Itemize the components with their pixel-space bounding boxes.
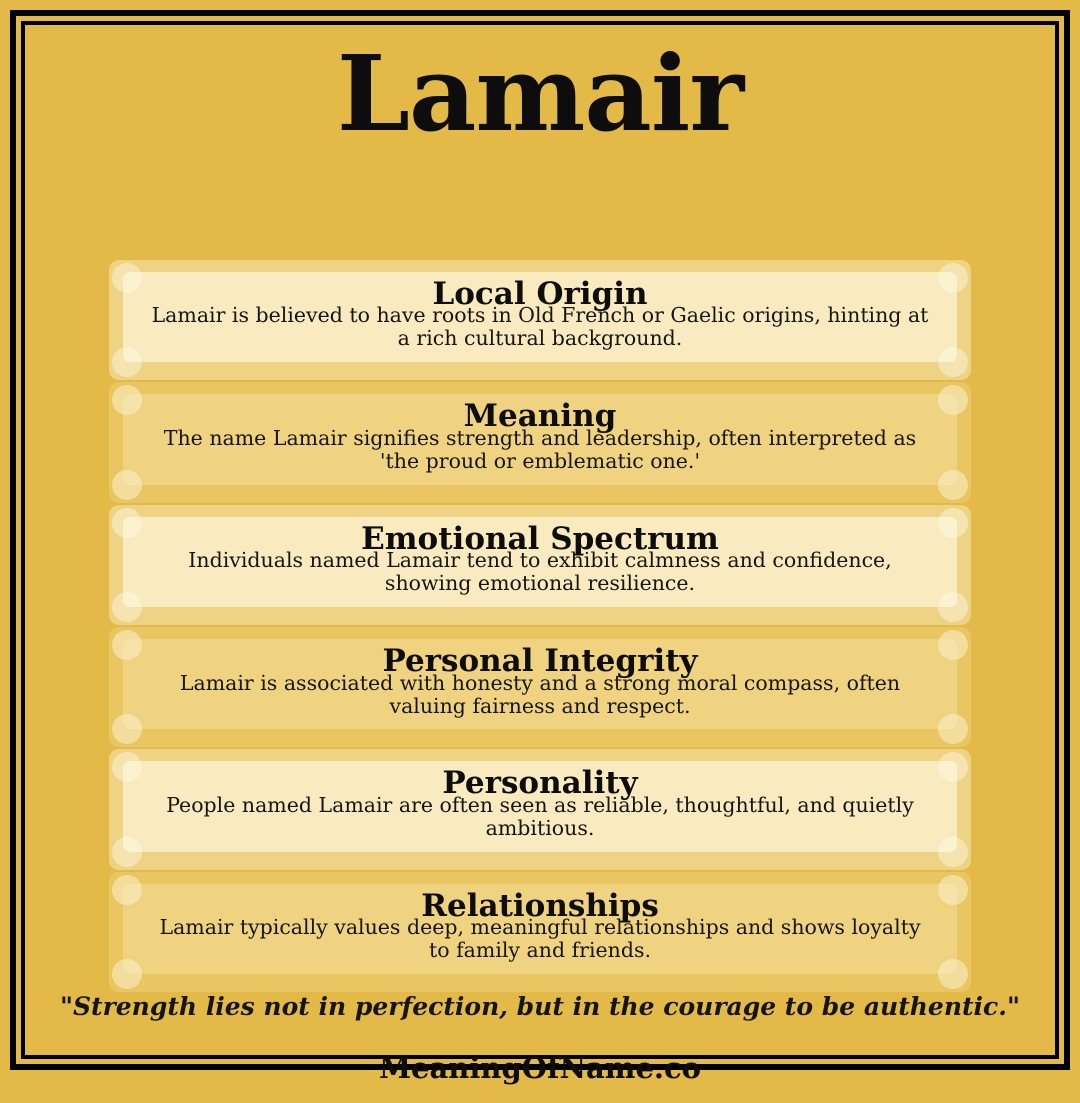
- attribute-card: Relationships Lamair typically values de…: [109, 872, 971, 992]
- attribute-card: Emotional Spectrum Individuals named Lam…: [109, 505, 971, 625]
- attribute-card-list: Local Origin Lamair is believed to have …: [109, 260, 971, 993]
- attribute-card: Personality People named Lamair are ofte…: [109, 749, 971, 869]
- footer-quote: "Strength lies not in perfection, but in…: [28, 992, 1052, 1021]
- poster-footer: "Strength lies not in perfection, but in…: [28, 992, 1052, 1103]
- attribute-card-title: Personal Integrity: [151, 645, 929, 678]
- name-meaning-poster: Lamair Local Origin Lamair is believed t…: [0, 0, 1080, 1080]
- footer-brand: MeaningOfName.co: [28, 1051, 1052, 1085]
- attribute-card-panel: Local Origin Lamair is believed to have …: [123, 272, 957, 362]
- attribute-card-title: Local Origin: [151, 278, 929, 311]
- attribute-card-title: Personality: [151, 767, 929, 800]
- poster-content: Lamair Local Origin Lamair is believed t…: [28, 28, 1052, 1052]
- attribute-card: Meaning The name Lamair signifies streng…: [109, 382, 971, 502]
- attribute-card-title: Relationships: [151, 890, 929, 923]
- attribute-card: Local Origin Lamair is believed to have …: [109, 260, 971, 380]
- attribute-card-panel: Personal Integrity Lamair is associated …: [123, 639, 957, 729]
- attribute-card: Personal Integrity Lamair is associated …: [109, 627, 971, 747]
- attribute-card-title: Meaning: [151, 400, 929, 433]
- attribute-card-title: Emotional Spectrum: [151, 523, 929, 556]
- attribute-card-panel: Relationships Lamair typically values de…: [123, 884, 957, 974]
- attribute-card-panel: Meaning The name Lamair signifies streng…: [123, 394, 957, 484]
- attribute-card-panel: Personality People named Lamair are ofte…: [123, 761, 957, 851]
- page-title: Lamair: [28, 42, 1052, 146]
- attribute-card-panel: Emotional Spectrum Individuals named Lam…: [123, 517, 957, 607]
